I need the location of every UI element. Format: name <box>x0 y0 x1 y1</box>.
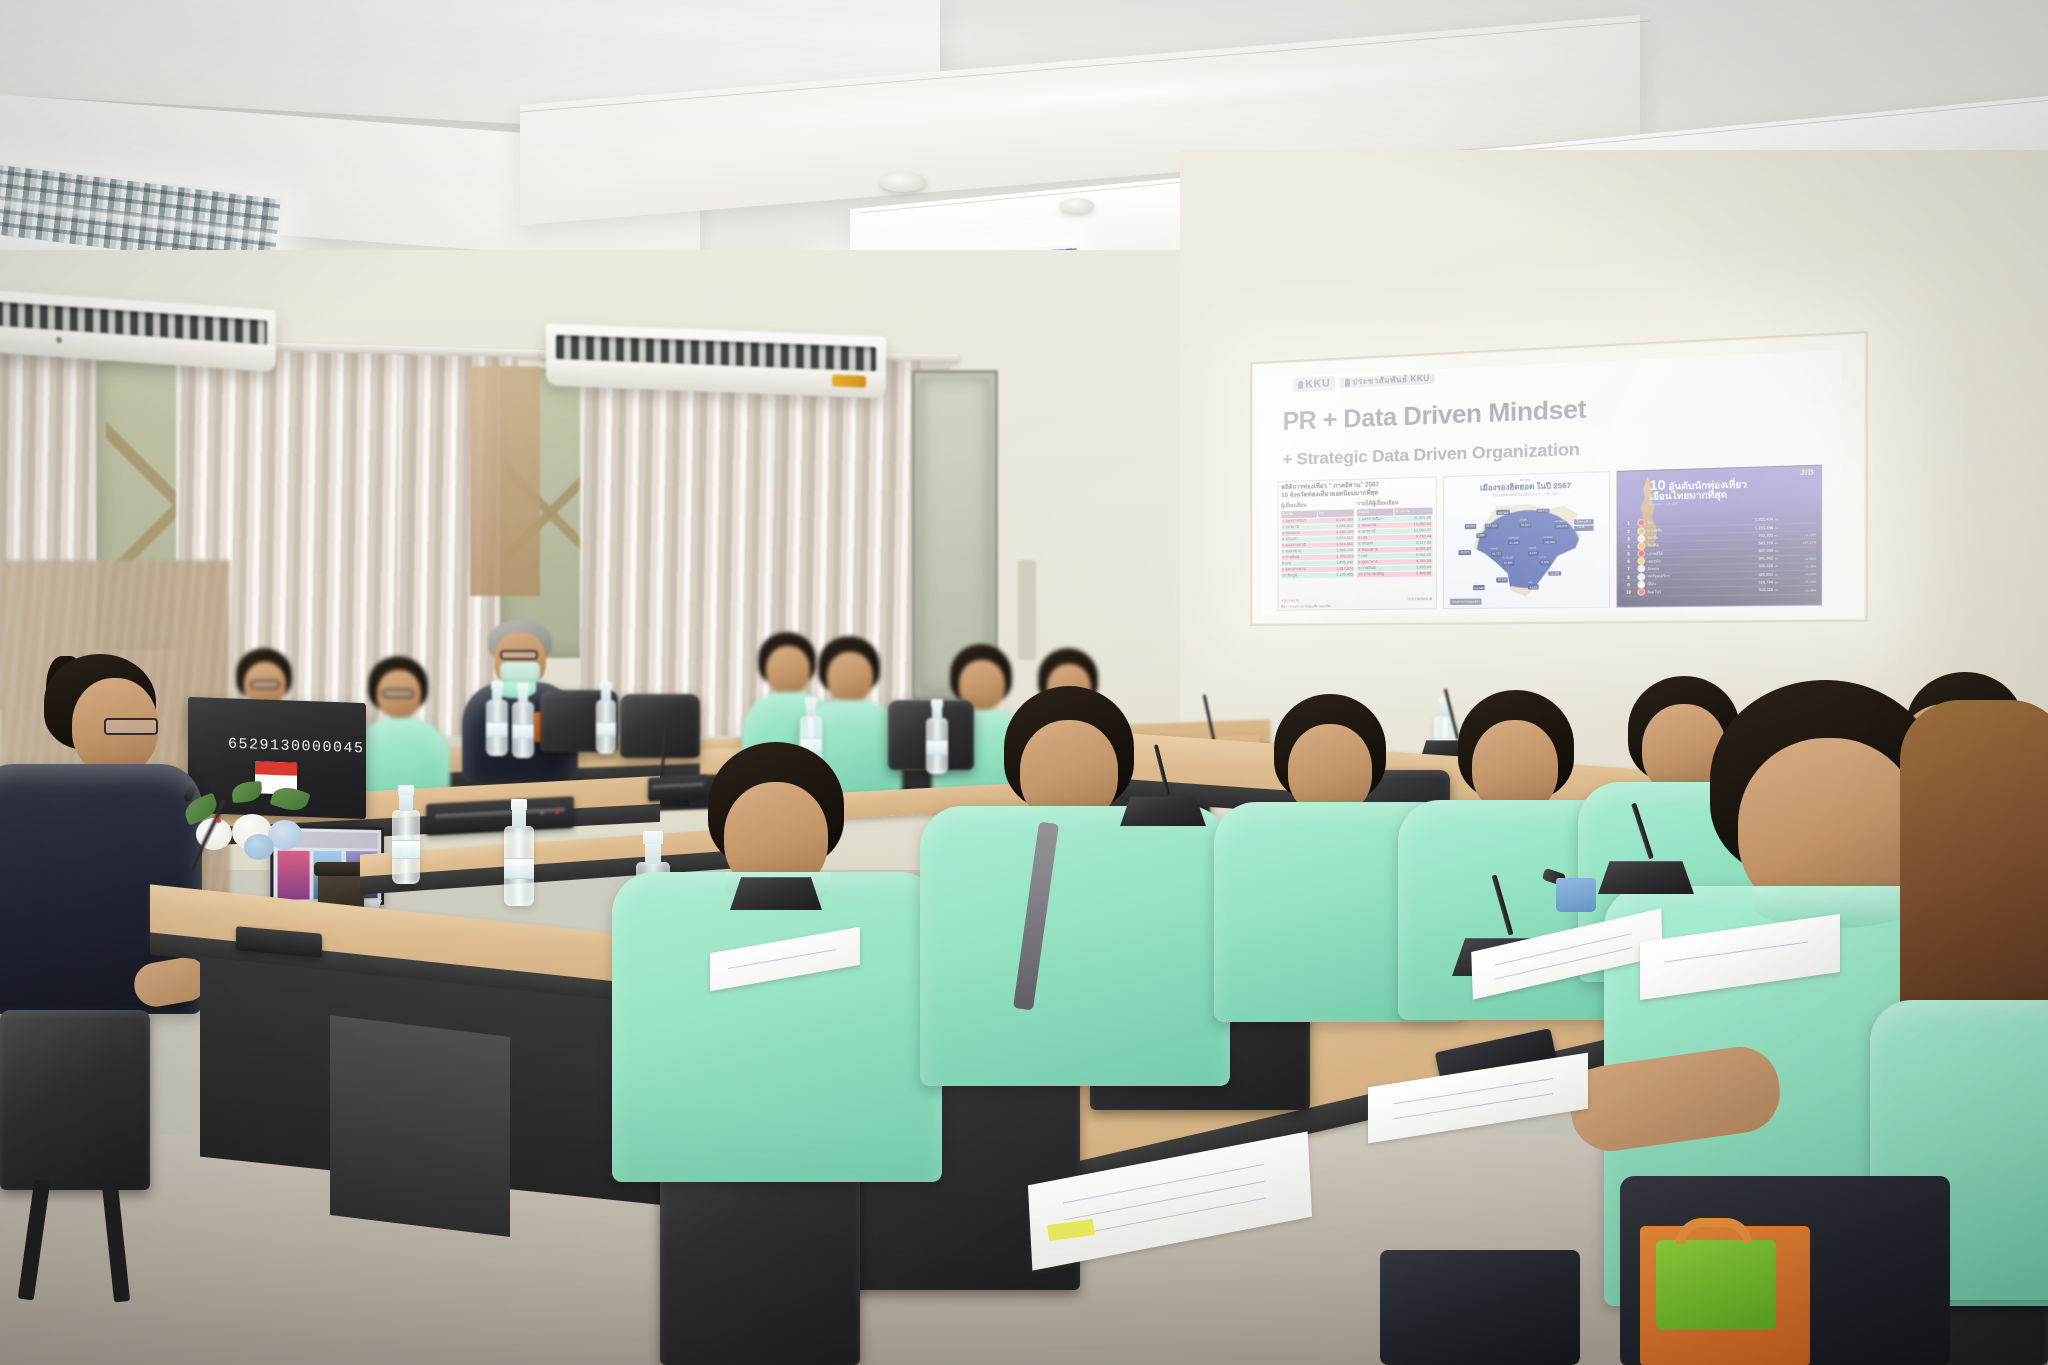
map-value-pill: 4,515 <box>1528 584 1538 589</box>
map-value-pill: 86,771 <box>1537 508 1549 513</box>
top10-value: 315,116 คน <box>1712 588 1779 594</box>
stats-row-value: 1,312,674 <box>1325 566 1354 572</box>
top10-percent <box>1781 551 1817 552</box>
stats-row-value: 13,060.22 <box>1402 528 1432 534</box>
map-value-pill: 15,575 <box>1459 550 1471 555</box>
stats-row-value: 8,150,385 <box>1325 517 1354 523</box>
stats-row-name: 10 อำนาจเจริญ <box>1357 571 1401 577</box>
country-flag-icon <box>1637 519 1645 527</box>
tote-bag-green[interactable] <box>1656 1240 1776 1330</box>
top10-country: เยอรมัน <box>1647 557 1709 564</box>
map-credit: กระทรวงการท่องเที่ยว <box>1450 599 1482 605</box>
map-value-pill: 30,305 <box>1549 571 1561 576</box>
top10-percent: +6.15% <box>1781 580 1817 585</box>
top10-value: 1,153,498 คน <box>1712 525 1779 532</box>
top10-value: 316,744 คน <box>1712 580 1779 586</box>
top10-value: 341,242 คน <box>1712 556 1779 563</box>
stats-row-name: 8 มุกดาหาร <box>1357 559 1401 565</box>
wall-switch-plate <box>1018 560 1036 660</box>
stats-row-value: 1,703,221 <box>1325 554 1354 560</box>
stats-row-value: 1,988,740 <box>1325 548 1354 554</box>
top10-country: สหรัฐอเมริกา <box>1647 572 1709 579</box>
blue-mug[interactable] <box>1556 878 1596 912</box>
top10-country: ญี่ปุ่น <box>1647 580 1709 587</box>
stats-footer-right: THE FARMHUB <box>1407 596 1432 601</box>
stats-row-value: 15,382.63 <box>1402 522 1432 528</box>
stats-row-name: 9 กาฬสินธุ์ <box>1357 565 1401 571</box>
stats-sub-left-0: จังหวัด <box>1281 510 1317 518</box>
top10-country: อินเดีย <box>1647 542 1709 550</box>
stats-row-value: 6,554.80 <box>1402 546 1432 552</box>
map-value-pill: 2,086 <box>1476 533 1486 538</box>
top10-country: มาเลเซีย <box>1647 526 1709 534</box>
kku-pin-icon <box>1298 381 1303 389</box>
top10-rank: 2 <box>1622 528 1635 534</box>
stats-footer-left: สรุปภาพรวม <box>1281 598 1299 603</box>
top10-rank: 1 <box>1622 521 1635 527</box>
presenter-glasses <box>104 718 158 735</box>
country-flag-icon <box>1637 558 1645 566</box>
top10-country: เกาหลีใต้ <box>1647 549 1709 557</box>
top10-country: รัสเซีย <box>1647 534 1709 542</box>
top10-value: 732,202 คน <box>1712 533 1779 540</box>
stats-row-value: 3,406.88 <box>1402 571 1432 577</box>
stats-row: 10 ชัยภูมิ1,120,455 <box>1281 572 1354 578</box>
stats-row-value: 2,874,512 <box>1325 536 1354 542</box>
stats-sub-right-1: ล้านบาท <box>1395 507 1432 515</box>
conference-room-scene: KKU ประชาสัมพันธ์ KKU PR + Data Driven M… <box>0 0 2048 1365</box>
stats-row-value: 9,210.44 <box>1402 534 1432 540</box>
top10-value: 497,930 คน <box>1712 549 1779 556</box>
top10-percent: +14.17% <box>1781 541 1817 546</box>
map-value-pill: 2,157 <box>1528 551 1538 556</box>
country-flag-icon <box>1637 581 1645 589</box>
water-bottle-b3[interactable] <box>596 700 616 754</box>
top10-rank: 8 <box>1622 574 1635 579</box>
top10-rank: 9 <box>1622 582 1635 587</box>
ceiling-vent <box>1060 198 1094 213</box>
stats-row-name: 10 ชัยภูมิ <box>1281 572 1324 578</box>
stats-sub-right-0: จังหวัด <box>1357 508 1394 516</box>
water-bottle-b5[interactable] <box>926 718 948 774</box>
map-value-pill: 108,079 <box>1555 524 1569 529</box>
map-value-pill: 102,900 <box>1543 539 1557 544</box>
map-value-pill: 41,108 <box>1508 540 1520 545</box>
map-value-pill: 35,915 <box>1465 524 1477 529</box>
country-flag-icon <box>1637 550 1645 558</box>
top10-rank: 5 <box>1622 551 1635 557</box>
stats-row: 10 อำนาจเจริญ3,406.88 <box>1357 571 1432 577</box>
microphone-indicator-light <box>216 818 221 823</box>
chair-back-2[interactable] <box>620 694 700 758</box>
stats-row-value: 21,921.05 <box>1402 515 1432 521</box>
top10-ranking-list: 1จีน1,331,434 คน2มาเลเซีย1,153,498 คน3รั… <box>1622 516 1817 603</box>
water-bottle-b1[interactable] <box>486 700 508 756</box>
top10-percent: +1.18% <box>1781 533 1817 538</box>
water-bottle-m2[interactable] <box>504 826 534 906</box>
panel-isan-tourism-stats: สถิติการท่องเที่ยว " ภาคอีสาน" 2567 10 จ… <box>1277 477 1436 611</box>
slide-logo-row: KKU ประชาสัมพันธ์ KKU <box>1293 372 1435 393</box>
slide-panels: สถิติการท่องเที่ยว " ภาคอีสาน" 2567 10 จ… <box>1277 465 1822 610</box>
presentation-slide: KKU ประชาสัมพันธ์ KKU PR + Data Driven M… <box>1261 350 1841 615</box>
map-legend: นักท่องเที่ยว รายได้ <box>1574 519 1593 531</box>
map-value-pill: 20,215 <box>1496 577 1508 582</box>
country-flag-icon <box>1637 527 1645 535</box>
top10-value: 543,770 คน <box>1712 541 1779 548</box>
map-legend-1: รายได้ <box>1574 525 1593 530</box>
country-flag-icon <box>1637 588 1645 596</box>
top10-rank: 6 <box>1622 559 1635 565</box>
map-legend-0: นักท่องเที่ยว <box>1574 519 1593 524</box>
stats-column-revenue: รายได้ผู้เยี่ยมเยือน จังหวัด ล้านบาท 1 น… <box>1357 498 1432 578</box>
map-value-pill: 16,727 <box>1490 551 1502 556</box>
chair-foreground-left[interactable] <box>0 1010 150 1190</box>
top10-rank: 10 <box>1622 589 1635 594</box>
stats-row-value: 1,455,090 <box>1325 560 1354 566</box>
top10-percent: +9.44% <box>1781 572 1817 577</box>
stats-row-value: 3,960.44 <box>1402 565 1432 571</box>
wood-pillar-trim <box>470 366 540 596</box>
stats-row-name: 7 กาฬสินธุ์ <box>1281 554 1324 560</box>
stats-row-name: 6 หนองคาย <box>1357 547 1401 553</box>
top10-row: 10สิงคโปร์315,116 คน+3.98% <box>1622 587 1817 597</box>
country-flag-icon <box>1637 542 1645 550</box>
stats-row-value: 4,595,512 <box>1325 523 1354 529</box>
stats-row-value: 5,902.10 <box>1402 552 1432 558</box>
stats-row-value: 8,117.33 <box>1402 540 1432 546</box>
stats-row-name: 8 เลย <box>1281 560 1324 566</box>
map-value-pill: 10,884 <box>1502 560 1514 565</box>
slide-subtitle: + Strategic Data Driven Organization <box>1283 440 1580 471</box>
slide-title: PR + Data Driven Mindset <box>1283 394 1587 436</box>
panel-secondary-cities-map: สมาคม เมืองรองฮิตฮอต ในปี 2567 จำนวนนักท… <box>1442 471 1610 608</box>
projection-screen[interactable]: KKU ประชาสัมพันธ์ KKU PR + Data Driven M… <box>1253 334 1864 623</box>
top10-percent: +5.38% <box>1781 564 1817 569</box>
top10-country: จีน <box>1647 518 1709 526</box>
stats-row-name: 9 มหาสารคาม <box>1281 566 1324 572</box>
top10-percent <box>1781 519 1817 520</box>
top10-value: 320,631 คน <box>1712 572 1779 578</box>
stats-row-name: 6 หนองคาย <box>1281 548 1324 554</box>
top10-percent: +2.55% <box>1781 556 1817 561</box>
kku-secondary-pin-icon <box>1345 379 1350 387</box>
stats-sub-left-1: คน <box>1318 509 1354 517</box>
top10-rank: 7 <box>1622 566 1635 572</box>
top10-percent <box>1781 527 1817 528</box>
kku-logo: KKU <box>1293 376 1335 392</box>
air-conditioner-right <box>546 323 886 398</box>
stats-row-value: 1,120,455 <box>1325 572 1354 578</box>
top10-value: 1,331,434 คน <box>1712 517 1779 524</box>
stats-row-name: 7 เลย <box>1357 553 1401 559</box>
country-flag-icon <box>1637 535 1645 543</box>
map-value-pill: 15,512 <box>1519 523 1531 528</box>
top10-rank: 3 <box>1622 536 1635 542</box>
panel-top10-countries: JIB 10 อันดับนักท่องเที่ยว เยือนไทยมากที… <box>1617 465 1822 607</box>
kku-secondary-logo: ประชาสัมพันธ์ KKU <box>1340 373 1435 388</box>
stats-source-note: ที่มา : กระทรวงการท่องเที่ยวและกีฬา <box>1281 604 1331 610</box>
tote-bag-handle <box>1676 1218 1752 1244</box>
top10-percent: +3.98% <box>1781 588 1817 593</box>
map-value-pill: 6,506 <box>1540 560 1550 565</box>
map-value-pill: 157,305 <box>1485 523 1499 528</box>
top10-country: อังกฤษ <box>1647 565 1709 572</box>
water-bottle-b2[interactable] <box>512 702 534 758</box>
map-value-pill: 41,640 <box>1473 585 1485 590</box>
country-flag-icon <box>1637 573 1645 581</box>
stats-row-value: 4,785.58 <box>1402 558 1432 564</box>
top10-rank: 4 <box>1622 544 1635 550</box>
audio-control-unit-2[interactable] <box>648 774 708 801</box>
table-left-panel <box>330 1015 510 1237</box>
map-value-pill: 162,504 <box>1496 510 1510 515</box>
water-bottle-m1[interactable] <box>392 810 420 884</box>
stats-column-visitors: ผู้เยี่ยมเยือน จังหวัด คน 1 นครราชสีมา8,… <box>1281 500 1354 579</box>
stats-row-value: 2,315,880 <box>1325 542 1354 548</box>
top10-country: สิงคโปร์ <box>1647 588 1709 595</box>
smoke-detector <box>880 172 926 192</box>
country-flag-icon <box>1637 565 1645 573</box>
top10-value: 335,916 คน <box>1712 564 1779 570</box>
stats-row-value: 4,460,129 <box>1325 529 1354 535</box>
bag-dark-2[interactable] <box>1380 1250 1580 1365</box>
